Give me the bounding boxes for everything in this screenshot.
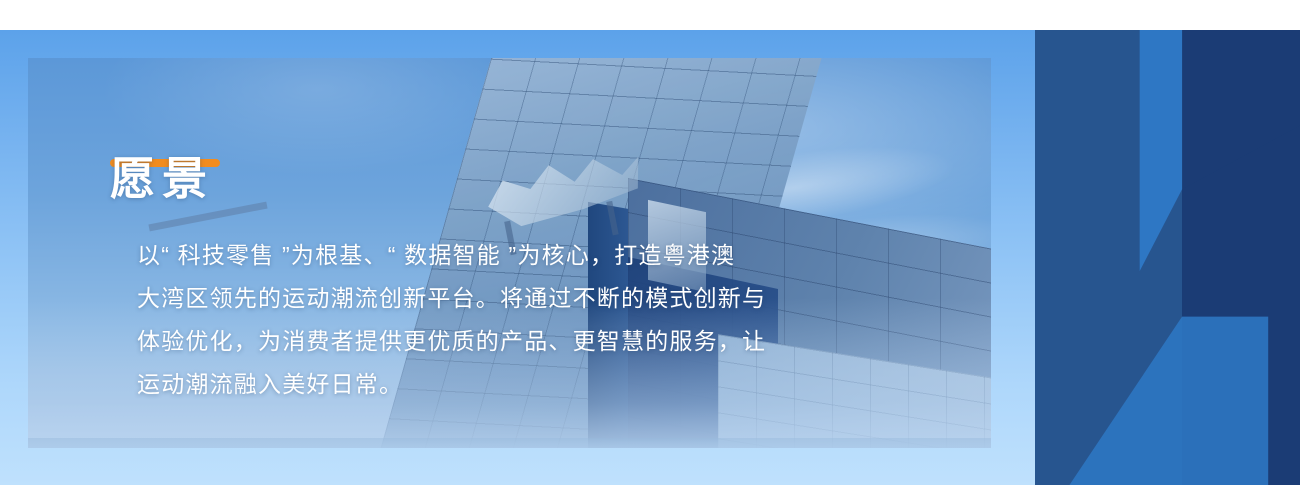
- right-geometric-panel: [1035, 30, 1300, 485]
- vision-line-3: 体验优化，为消费者提供更优质的产品、更智慧的服务，让: [137, 320, 897, 363]
- vision-banner: 愿景 以“ 科技零售 ”为根基、“ 数据智能 ”为核心，打造粤港澳 大湾区领先的…: [0, 0, 1300, 485]
- vision-body-text: 以“ 科技零售 ”为根基、“ 数据智能 ”为核心，打造粤港澳 大湾区领先的运动潮…: [137, 234, 897, 406]
- vision-photo-card: 愿景 以“ 科技零售 ”为根基、“ 数据智能 ”为核心，打造粤港澳 大湾区领先的…: [28, 58, 991, 448]
- page-title: 愿景: [110, 156, 214, 201]
- vision-line-1: 以“ 科技零售 ”为根基、“ 数据智能 ”为核心，打造粤港澳: [137, 234, 897, 277]
- vision-copy-block: 愿景 以“ 科技零售 ”为根基、“ 数据智能 ”为核心，打造粤港澳 大湾区领先的…: [28, 58, 991, 448]
- vision-line-4: 运动潮流融入美好日常。: [137, 363, 897, 406]
- vision-line-2: 大湾区领先的运动潮流创新平台。将通过不断的模式创新与: [137, 277, 897, 320]
